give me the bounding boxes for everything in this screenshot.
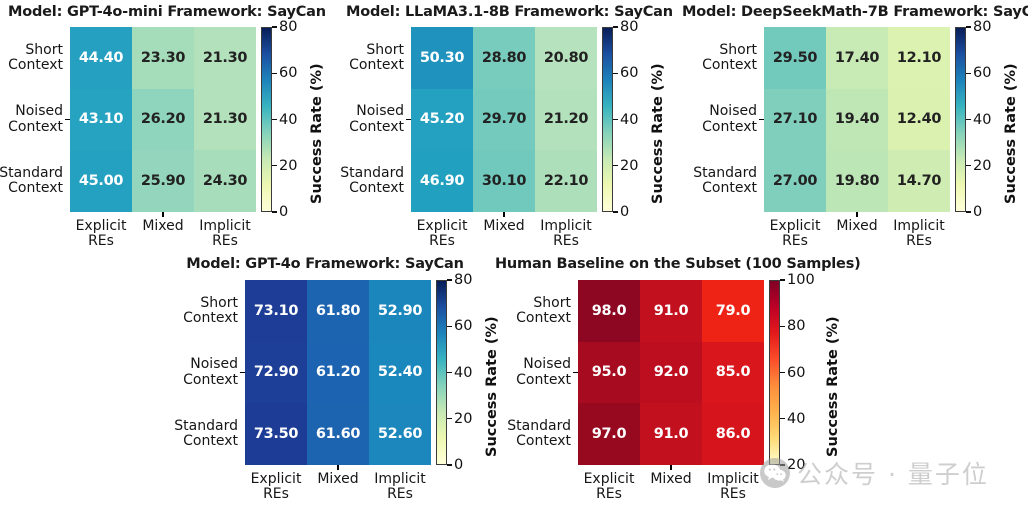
heatmap-cell: 86.0 <box>702 403 764 465</box>
x-tick-line: Explicit <box>578 472 640 487</box>
x-tick-line: Mixed <box>473 219 535 234</box>
y-tick-line: Context <box>8 181 63 196</box>
x-tick-mark <box>162 212 163 217</box>
panel-title: Model: GPT-4o-mini Framework: SayCan <box>8 4 282 20</box>
heatmap-cell: 26.20 <box>132 89 194 151</box>
y-tick-line: Context <box>349 181 404 196</box>
colorbar-tick-label: 0 <box>973 204 982 220</box>
x-axis-labels: ExplicitREsMixedImplicitREs <box>245 465 431 502</box>
heatmap-cell: 61.20 <box>307 342 369 404</box>
y-tick-label: StandardContext <box>488 403 578 465</box>
heatmap-cell: 23.30 <box>132 27 194 89</box>
heatmap-cell-value: 30.10 <box>482 173 526 189</box>
x-tick-label: Mixed <box>132 212 194 249</box>
heatmap-cell-value: 73.50 <box>254 426 298 442</box>
y-tick-mark <box>406 119 411 120</box>
colorbar-ticks: 020406080 <box>447 280 487 465</box>
heatmap-cell: 21.20 <box>535 89 597 151</box>
heatmap-grid: 73.1061.8052.9072.9061.2052.4073.5061.60… <box>245 280 431 465</box>
y-tick-mark <box>759 119 764 120</box>
heatmap-cell: 52.40 <box>369 342 431 404</box>
y-tick-label: NoisedContext <box>0 89 70 151</box>
x-tick-mark <box>162 212 163 217</box>
colorbar-tick-mark <box>447 418 452 419</box>
heatmap-cell-value: 98.0 <box>592 303 627 319</box>
x-tick-label: ExplicitREs <box>245 465 307 502</box>
heatmap-cell-value: 44.40 <box>79 50 123 66</box>
x-tick-line: REs <box>70 234 132 249</box>
x-tick-line: REs <box>888 234 950 249</box>
x-tick-line: Explicit <box>245 472 307 487</box>
x-axis-labels: ExplicitREsMixedImplicitREs <box>578 465 764 502</box>
heatmap-cell-value: 95.0 <box>592 364 627 380</box>
colorbar-tick-label: 40 <box>973 112 991 128</box>
y-tick-label: ShortContext <box>488 280 578 342</box>
y-tick-mark <box>573 372 578 373</box>
colorbar-tick-mark <box>780 372 785 373</box>
y-tick-line: Context <box>349 58 404 73</box>
heatmap-cell: 19.40 <box>826 89 888 151</box>
y-tick-line: Context <box>702 58 757 73</box>
y-tick-line: Standard <box>507 419 571 434</box>
colorbar-tick-mark <box>780 464 785 465</box>
heatmap-cell-value: 61.80 <box>316 303 360 319</box>
heatmap-cell-value: 72.90 <box>254 364 298 380</box>
y-tick-label: NoisedContext <box>155 342 245 404</box>
heatmap-cell-value: 27.00 <box>773 173 817 189</box>
colorbar-tick-label: 60 <box>454 318 472 334</box>
colorbar-tick-label: 60 <box>279 65 297 81</box>
heatmap-cell: 45.00 <box>70 150 132 212</box>
heatmap-cell-value: 86.0 <box>716 426 751 442</box>
y-tick-line: Short <box>533 296 571 311</box>
y-tick-mark <box>65 119 70 120</box>
y-tick-mark <box>65 119 70 120</box>
x-tick-line: REs <box>369 487 431 502</box>
y-tick-line: Context <box>183 311 238 326</box>
heatmap-cell-value: 92.0 <box>654 364 689 380</box>
heatmap-cell-value: 12.40 <box>897 111 941 127</box>
heatmap-cell-value: 19.40 <box>835 111 879 127</box>
colorbar-tick-mark <box>272 165 277 166</box>
colorbar-tick-mark <box>613 26 618 27</box>
heatmap-cell: 29.50 <box>764 27 826 89</box>
y-tick-mark <box>406 119 411 120</box>
colorbar-ticks: 20406080100 <box>780 280 820 465</box>
heatmap-cell-value: 85.0 <box>716 364 751 380</box>
y-tick-line: Noised <box>15 104 63 119</box>
colorbar-tick-label: 80 <box>454 272 472 288</box>
heatmap-cell-value: 22.10 <box>544 173 588 189</box>
colorbar-tick-mark <box>966 26 971 27</box>
heatmap-cell-value: 91.0 <box>654 303 689 319</box>
heatmap-cell-value: 20.80 <box>544 50 588 66</box>
x-tick-mark <box>856 212 857 217</box>
heatmap-cell: 12.10 <box>888 27 950 89</box>
y-tick-label: ShortContext <box>0 27 70 89</box>
y-tick-label: StandardContext <box>321 150 411 212</box>
x-tick-line: REs <box>578 487 640 502</box>
x-tick-mark <box>337 465 338 470</box>
x-tick-mark <box>337 465 338 470</box>
x-tick-label: ExplicitREs <box>411 212 473 249</box>
heatmap-cell: 98.0 <box>578 280 640 342</box>
colorbar-tick-mark <box>447 464 452 465</box>
y-tick-label: NoisedContext <box>321 89 411 151</box>
colorbar-tick-label: 60 <box>787 365 805 381</box>
x-tick-line: Implicit <box>888 219 950 234</box>
heatmap-cell-value: 73.10 <box>254 303 298 319</box>
heatmap-cell-value: 17.40 <box>835 50 879 66</box>
x-tick-label: Mixed <box>640 465 702 502</box>
heatmap-cell: 52.90 <box>369 280 431 342</box>
x-tick-label: Mixed <box>473 212 535 249</box>
heatmap-cell: 27.00 <box>764 150 826 212</box>
colorbar-tick-label: 80 <box>620 19 638 35</box>
heatmap-cell-value: 52.60 <box>378 426 422 442</box>
heatmap-cell-value: 43.10 <box>79 111 123 127</box>
colorbar-tick-label: 60 <box>620 65 638 81</box>
heatmap-cell-value: 45.00 <box>79 173 123 189</box>
heatmap-cell: 19.80 <box>826 150 888 212</box>
heatmap-cell: 21.30 <box>194 27 256 89</box>
heatmap-cell: 92.0 <box>640 342 702 404</box>
y-tick-line: Context <box>516 434 571 449</box>
colorbar <box>436 280 447 465</box>
colorbar-tick-mark <box>447 279 452 280</box>
heatmap-cell: 73.10 <box>245 280 307 342</box>
heatmap-cell-value: 29.70 <box>482 111 526 127</box>
x-tick-line: Mixed <box>307 472 369 487</box>
x-tick-label: Mixed <box>307 465 369 502</box>
x-tick-line: REs <box>411 234 473 249</box>
y-tick-line: Noised <box>523 357 571 372</box>
y-tick-mark <box>759 119 764 120</box>
heatmap-cell-value: 45.20 <box>420 111 464 127</box>
y-tick-mark <box>406 119 411 120</box>
colorbar-tick-mark <box>613 119 618 120</box>
colorbar-tick-mark <box>613 211 618 212</box>
x-tick-line: Implicit <box>702 472 764 487</box>
heatmap-cell: 61.60 <box>307 403 369 465</box>
y-tick-line: Context <box>516 373 571 388</box>
x-tick-line: Implicit <box>369 472 431 487</box>
colorbar-axis-title: Success Rate (%) <box>1003 63 1019 204</box>
heatmap-cell-value: 50.30 <box>420 50 464 66</box>
colorbar-tick-mark <box>780 326 785 327</box>
heatmap-cell-value: 25.90 <box>141 173 185 189</box>
y-tick-line: Standard <box>693 166 757 181</box>
colorbar <box>769 280 780 465</box>
colorbar-tick-label: 0 <box>279 204 288 220</box>
x-tick-line: Implicit <box>535 219 597 234</box>
y-tick-mark <box>65 119 70 120</box>
heatmap-cell: 91.0 <box>640 403 702 465</box>
colorbar-tick-mark <box>272 26 277 27</box>
x-tick-line: Mixed <box>826 219 888 234</box>
heatmap-cell: 22.10 <box>535 150 597 212</box>
panel-title: Model: GPT-4o Framework: SayCan <box>180 256 470 272</box>
colorbar-tick-label: 20 <box>454 411 472 427</box>
y-tick-line: Short <box>25 43 63 58</box>
heatmap-cell: 12.40 <box>888 89 950 151</box>
x-tick-mark <box>503 212 504 217</box>
heatmap-cell-value: 91.0 <box>654 426 689 442</box>
colorbar-tick-mark <box>966 119 971 120</box>
heatmap-cell-value: 27.10 <box>773 111 817 127</box>
heatmap-cell: 91.0 <box>640 280 702 342</box>
y-axis-labels: ShortContextNoisedContextStandardContext <box>674 27 764 212</box>
y-tick-line: Noised <box>356 104 404 119</box>
colorbar-tick-label: 80 <box>787 318 805 334</box>
colorbar-tick-mark <box>272 119 277 120</box>
heatmap-cell: 97.0 <box>578 403 640 465</box>
colorbar-axis-title: Success Rate (%) <box>484 316 500 457</box>
y-tick-line: Context <box>702 181 757 196</box>
heatmap-cell: 43.10 <box>70 89 132 151</box>
x-tick-line: REs <box>764 234 826 249</box>
x-tick-mark <box>670 465 671 470</box>
heatmap-panel-human-baseline: Human Baseline on the Subset (100 Sample… <box>0 0 1028 514</box>
colorbar-tick-mark <box>966 73 971 74</box>
heatmap-cell-value: 23.30 <box>141 50 185 66</box>
y-tick-line: Context <box>183 373 238 388</box>
colorbar <box>602 27 613 212</box>
y-tick-mark <box>573 372 578 373</box>
heatmap-cell-value: 24.30 <box>203 173 247 189</box>
heatmap-cell: 45.20 <box>411 89 473 151</box>
y-tick-label: ShortContext <box>155 280 245 342</box>
colorbar-tick-label: 40 <box>279 112 297 128</box>
y-tick-line: Noised <box>190 357 238 372</box>
y-tick-line: Short <box>200 296 238 311</box>
heatmap-cell: 17.40 <box>826 27 888 89</box>
heatmap-cell-value: 61.20 <box>316 364 360 380</box>
y-tick-mark <box>240 372 245 373</box>
heatmap-panel-gpt-4o-mini: Model: GPT-4o-mini Framework: SayCan44.4… <box>0 0 1028 514</box>
colorbar-ticks: 020406080 <box>613 27 653 212</box>
y-axis-labels: ShortContextNoisedContextStandardContext <box>155 280 245 465</box>
x-tick-mark <box>670 465 671 470</box>
colorbar-ticks: 020406080 <box>272 27 312 212</box>
x-axis-labels: ExplicitREsMixedImplicitREs <box>70 212 256 249</box>
colorbar-tick-label: 60 <box>973 65 991 81</box>
heatmap-grid: 44.4023.3021.3043.1026.2021.3045.0025.90… <box>70 27 256 212</box>
heatmap-cell-value: 52.40 <box>378 364 422 380</box>
y-tick-label: StandardContext <box>674 150 764 212</box>
heatmap-cell: 29.70 <box>473 89 535 151</box>
y-tick-mark <box>240 372 245 373</box>
x-tick-mark <box>670 465 671 470</box>
colorbar-tick-mark <box>272 211 277 212</box>
heatmap-cell: 73.50 <box>245 403 307 465</box>
colorbar-tick-label: 80 <box>279 19 297 35</box>
colorbar-tick-mark <box>447 372 452 373</box>
x-tick-line: REs <box>535 234 597 249</box>
panel-title: Model: DeepSeekMath-7B Framework: SayCan <box>682 4 972 20</box>
y-tick-mark <box>240 372 245 373</box>
colorbar-tick-mark <box>966 211 971 212</box>
x-tick-label: ExplicitREs <box>764 212 826 249</box>
heatmap-cell: 44.40 <box>70 27 132 89</box>
x-tick-mark <box>856 212 857 217</box>
x-tick-label: Mixed <box>826 212 888 249</box>
heatmap-cell: 61.80 <box>307 280 369 342</box>
x-tick-label: ImplicitREs <box>369 465 431 502</box>
heatmap-grid: 50.3028.8020.8045.2029.7021.2046.9030.10… <box>411 27 597 212</box>
heatmap-cell-value: 28.80 <box>482 50 526 66</box>
x-tick-label: ExplicitREs <box>70 212 132 249</box>
y-tick-label: StandardContext <box>155 403 245 465</box>
colorbar <box>261 27 272 212</box>
panel-title: Model: LLaMA3.1-8B Framework: SayCan <box>346 4 620 20</box>
y-tick-label: ShortContext <box>321 27 411 89</box>
colorbar-tick-label: 0 <box>620 204 629 220</box>
panel-title: Human Baseline on the Subset (100 Sample… <box>495 256 831 272</box>
y-tick-mark <box>573 372 578 373</box>
x-tick-line: Explicit <box>764 219 826 234</box>
heatmap-cell: 85.0 <box>702 342 764 404</box>
colorbar-axis-title: Success Rate (%) <box>650 63 666 204</box>
heatmap-cell: 50.30 <box>411 27 473 89</box>
figure-canvas: Model: GPT-4o-mini Framework: SayCan44.4… <box>0 0 1028 514</box>
y-tick-line: Context <box>8 120 63 135</box>
x-tick-mark <box>162 212 163 217</box>
heatmap-cell: 79.0 <box>702 280 764 342</box>
colorbar-tick-label: 40 <box>787 411 805 427</box>
heatmap-grid: 98.091.079.095.092.085.097.091.086.0 <box>578 280 764 465</box>
heatmap-cell: 28.80 <box>473 27 535 89</box>
colorbar-tick-label: 20 <box>787 457 805 473</box>
y-tick-line: Context <box>8 58 63 73</box>
y-axis-labels: ShortContextNoisedContextStandardContext <box>0 27 70 212</box>
heatmap-panel-llama3-1-8b: Model: LLaMA3.1-8B Framework: SayCan50.3… <box>0 0 1028 514</box>
colorbar-axis-title: Success Rate (%) <box>309 63 325 204</box>
x-tick-line: REs <box>194 234 256 249</box>
heatmap-cell-value: 21.30 <box>203 111 247 127</box>
colorbar-tick-label: 20 <box>973 158 991 174</box>
x-axis-labels: ExplicitREsMixedImplicitREs <box>764 212 950 249</box>
colorbar-tick-label: 0 <box>454 457 463 473</box>
colorbar-tick-label: 40 <box>620 112 638 128</box>
y-tick-line: Context <box>702 120 757 135</box>
heatmap-cell: 20.80 <box>535 27 597 89</box>
heatmap-cell: 14.70 <box>888 150 950 212</box>
x-tick-line: Explicit <box>70 219 132 234</box>
x-tick-mark <box>503 212 504 217</box>
colorbar-tick-mark <box>272 73 277 74</box>
heatmap-cell: 52.60 <box>369 403 431 465</box>
heatmap-cell: 24.30 <box>194 150 256 212</box>
heatmap-cell-value: 14.70 <box>897 173 941 189</box>
heatmap-cell-value: 79.0 <box>716 303 751 319</box>
x-tick-label: ImplicitREs <box>194 212 256 249</box>
y-axis-labels: ShortContextNoisedContextStandardContext <box>488 280 578 465</box>
heatmap-cell-value: 21.30 <box>203 50 247 66</box>
heatmap-cell: 95.0 <box>578 342 640 404</box>
y-tick-label: StandardContext <box>0 150 70 212</box>
x-tick-mark <box>856 212 857 217</box>
colorbar-tick-mark <box>447 326 452 327</box>
y-tick-line: Short <box>366 43 404 58</box>
heatmap-cell: 30.10 <box>473 150 535 212</box>
colorbar-tick-mark <box>780 418 785 419</box>
heatmap-cell-value: 29.50 <box>773 50 817 66</box>
heatmap-cell-value: 21.20 <box>544 111 588 127</box>
y-tick-label: ShortContext <box>674 27 764 89</box>
colorbar-tick-mark <box>613 165 618 166</box>
x-tick-label: ExplicitREs <box>578 465 640 502</box>
y-axis-labels: ShortContextNoisedContextStandardContext <box>321 27 411 212</box>
y-tick-mark <box>759 119 764 120</box>
heatmap-cell-value: 52.90 <box>378 303 422 319</box>
heatmap-cell-value: 19.80 <box>835 173 879 189</box>
y-tick-line: Context <box>516 311 571 326</box>
y-tick-line: Noised <box>709 104 757 119</box>
heatmap-cell: 72.90 <box>245 342 307 404</box>
heatmap-cell: 46.90 <box>411 150 473 212</box>
y-tick-line: Short <box>719 43 757 58</box>
x-tick-mark <box>503 212 504 217</box>
heatmap-cell-value: 97.0 <box>592 426 627 442</box>
heatmap-cell: 21.30 <box>194 89 256 151</box>
colorbar-ticks: 020406080 <box>966 27 1006 212</box>
colorbar <box>955 27 966 212</box>
colorbar-tick-mark <box>780 279 785 280</box>
x-tick-label: ImplicitREs <box>702 465 764 502</box>
y-tick-line: Standard <box>340 166 404 181</box>
colorbar-tick-label: 100 <box>787 272 815 288</box>
heatmap-cell-value: 12.10 <box>897 50 941 66</box>
x-tick-line: Explicit <box>411 219 473 234</box>
y-tick-line: Context <box>183 434 238 449</box>
y-tick-line: Context <box>349 120 404 135</box>
colorbar-tick-mark <box>613 73 618 74</box>
heatmap-panel-gpt-4o: Model: GPT-4o Framework: SayCan73.1061.8… <box>0 0 1028 514</box>
heatmap-cell-value: 61.60 <box>316 426 360 442</box>
heatmap-cell: 27.10 <box>764 89 826 151</box>
y-tick-label: NoisedContext <box>488 342 578 404</box>
y-tick-label: NoisedContext <box>674 89 764 151</box>
colorbar-tick-label: 20 <box>620 158 638 174</box>
x-axis-labels: ExplicitREsMixedImplicitREs <box>411 212 597 249</box>
heatmap-grid: 29.5017.4012.1027.1019.4012.4027.0019.80… <box>764 27 950 212</box>
heatmap-cell-value: 26.20 <box>141 111 185 127</box>
x-tick-label: ImplicitREs <box>535 212 597 249</box>
heatmap-cell-value: 46.90 <box>420 173 464 189</box>
y-tick-line: Standard <box>174 419 238 434</box>
x-tick-label: ImplicitREs <box>888 212 950 249</box>
x-tick-line: REs <box>702 487 764 502</box>
colorbar-tick-label: 80 <box>973 19 991 35</box>
x-tick-mark <box>337 465 338 470</box>
colorbar-tick-label: 20 <box>279 158 297 174</box>
heatmap-cell: 25.90 <box>132 150 194 212</box>
x-tick-line: Implicit <box>194 219 256 234</box>
colorbar-axis-title: Success Rate (%) <box>825 316 841 457</box>
x-tick-line: Mixed <box>132 219 194 234</box>
x-tick-line: Mixed <box>640 472 702 487</box>
colorbar-tick-label: 40 <box>454 365 472 381</box>
y-tick-line: Standard <box>0 166 63 181</box>
colorbar-tick-mark <box>966 165 971 166</box>
x-tick-line: REs <box>245 487 307 502</box>
heatmap-panel-deepseekmath-7b: Model: DeepSeekMath-7B Framework: SayCan… <box>0 0 1028 514</box>
